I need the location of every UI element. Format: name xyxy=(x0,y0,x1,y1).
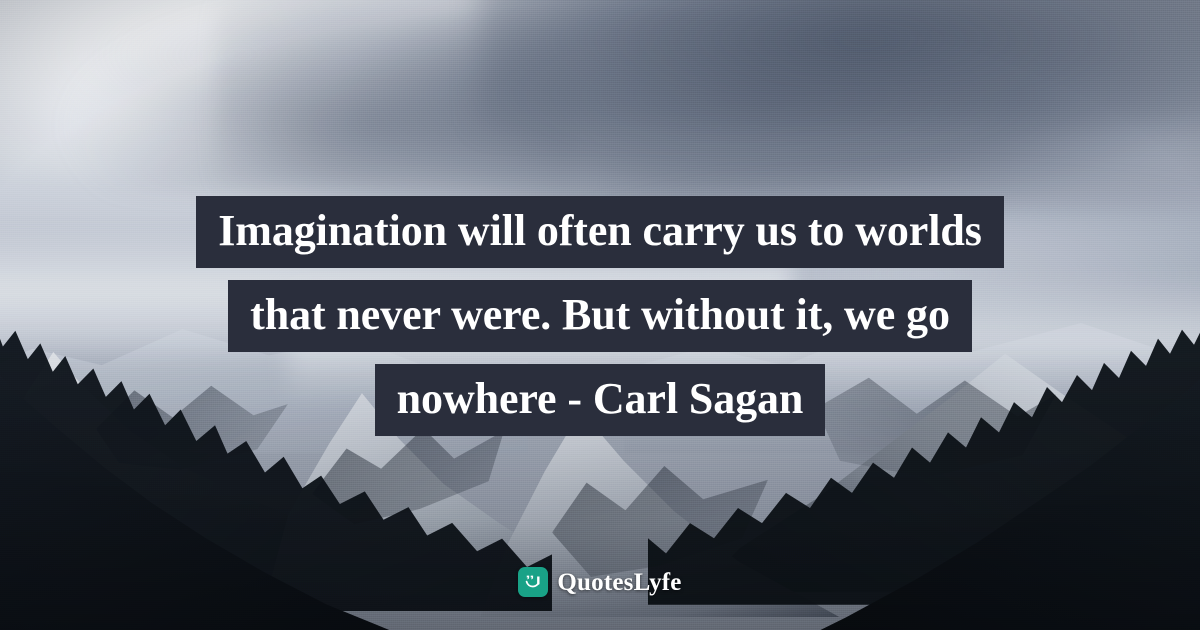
brand-watermark[interactable]: QuotesLyfe xyxy=(0,567,1200,597)
brand-name: QuotesLyfe xyxy=(557,570,681,595)
quote-line-2: that never were. But without it, we go xyxy=(228,280,972,352)
quote-line-3: nowhere - Carl Sagan xyxy=(375,364,826,436)
quote-smiley-icon xyxy=(518,567,548,597)
quote-text-block: Imagination will often carry us to world… xyxy=(0,196,1200,436)
quote-line-1: Imagination will often carry us to world… xyxy=(196,196,1003,268)
quote-card: Imagination will often carry us to world… xyxy=(0,0,1200,630)
